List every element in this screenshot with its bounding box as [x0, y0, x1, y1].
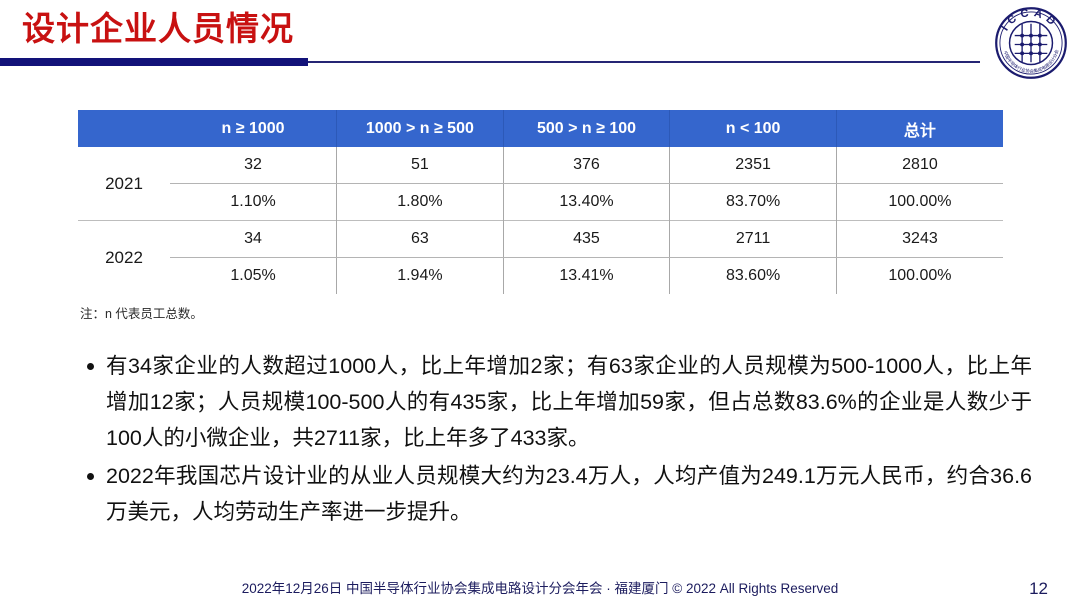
table-cell: 1.80%	[337, 184, 504, 221]
table-header-col3: 500 > n ≥ 100	[503, 110, 670, 147]
table-cell: 1.05%	[170, 258, 337, 295]
table-cell: 100.00%	[836, 184, 1003, 221]
table-cell: 2351	[670, 147, 837, 184]
list-item: 有34家企业的人数超过1000人，比上年增加2家；有63家企业的人员规模为500…	[80, 348, 1032, 456]
table-cell: 2810	[836, 147, 1003, 184]
table-cell: 51	[337, 147, 504, 184]
table-cell-year: 2021	[78, 147, 170, 221]
personnel-table: n ≥ 1000 1000 > n ≥ 500 500 > n ≥ 100 n …	[78, 110, 1003, 294]
table-cell: 376	[503, 147, 670, 184]
page-title: 设计企业人员情况	[22, 8, 294, 50]
table-cell: 3243	[836, 221, 1003, 258]
iccad-logo: ICCAD 中国半导体行业协会集成电路设计分会	[994, 6, 1068, 80]
table-row: 1.05% 1.94% 13.41% 83.60% 100.00%	[78, 258, 1003, 295]
table-cell: 63	[337, 221, 504, 258]
table-cell: 435	[503, 221, 670, 258]
table-cell: 34	[170, 221, 337, 258]
svg-text:ICCAD: ICCAD	[999, 7, 1061, 33]
table-header-total: 总计	[836, 110, 1003, 147]
title-accent-bar-thick	[0, 58, 308, 66]
table-row: 2022 34 63 435 2711 3243	[78, 221, 1003, 258]
table-header-row: n ≥ 1000 1000 > n ≥ 500 500 > n ≥ 100 n …	[78, 110, 1003, 147]
table-header-col2: 1000 > n ≥ 500	[337, 110, 504, 147]
table-header-col4: n < 100	[670, 110, 837, 147]
footer-text: 2022年12月26日 中国半导体行业协会集成电路设计分会年会 · 福建厦门 ©…	[0, 577, 1080, 597]
list-item: 2022年我国芯片设计业的从业人员规模大约为23.4万人，人均产值为249.1万…	[80, 458, 1032, 530]
table-cell: 1.94%	[337, 258, 504, 295]
iccad-logo-icon: ICCAD 中国半导体行业协会集成电路设计分会	[994, 6, 1068, 80]
table-row: 2021 32 51 376 2351 2810	[78, 147, 1003, 184]
table-cell: 32	[170, 147, 337, 184]
table-cell-year: 2022	[78, 221, 170, 295]
bullet-list: 有34家企业的人数超过1000人，比上年增加2家；有63家企业的人员规模为500…	[80, 348, 1032, 532]
table-cell: 100.00%	[836, 258, 1003, 295]
table-cell: 83.70%	[670, 184, 837, 221]
page-number: 12	[1029, 579, 1048, 599]
table-cell: 13.41%	[503, 258, 670, 295]
table-cell: 2711	[670, 221, 837, 258]
title-accent-bar-thin	[308, 61, 980, 63]
table-cell: 13.40%	[503, 184, 670, 221]
table-cell: 83.60%	[670, 258, 837, 295]
table-header-col1: n ≥ 1000	[170, 110, 337, 147]
table-cell: 1.10%	[170, 184, 337, 221]
table-note: 注：n 代表员工总数。	[80, 303, 203, 322]
table-row: 1.10% 1.80% 13.40% 83.70% 100.00%	[78, 184, 1003, 221]
table-header-year	[78, 110, 170, 147]
